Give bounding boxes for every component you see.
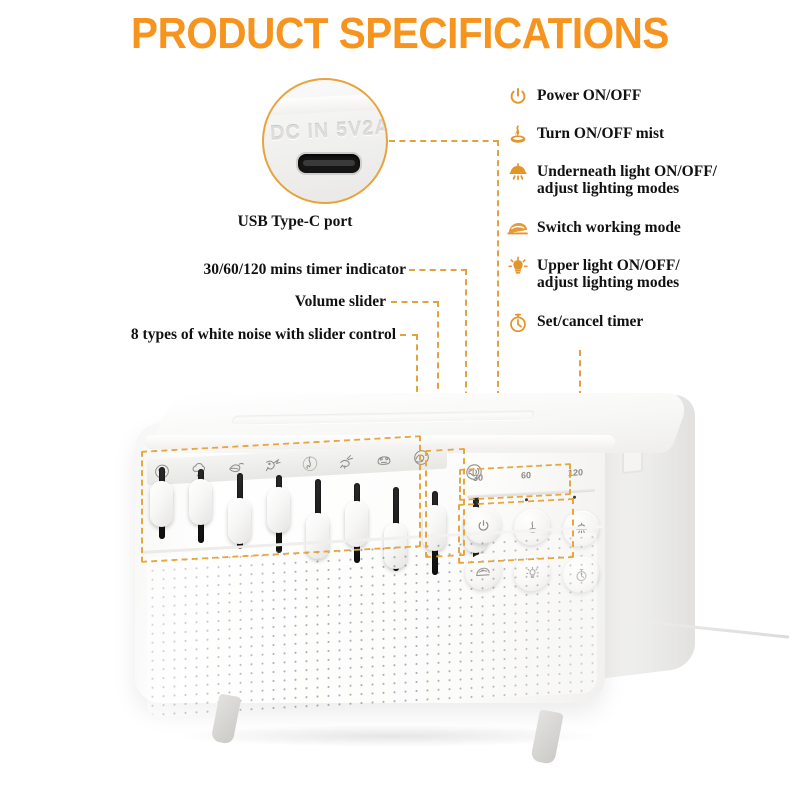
leader-volume-horizontal: [391, 301, 439, 303]
infographic-canvas: PRODUCT SPECIFICATIONS DC IN 5V2A USB Ty…: [0, 0, 800, 800]
legend-label: Switch working mode: [537, 216, 681, 236]
legend-label: Turn ON/OFF mist: [537, 122, 664, 142]
power-icon: [505, 84, 531, 110]
leader-usb-horizontal: [389, 140, 499, 142]
highlight-box-button-grid: [458, 498, 574, 564]
legend-item-upper-light: Upper light ON/OFF/ adjust lighting mode…: [505, 254, 680, 292]
label-volume-slider: Volume slider: [206, 293, 386, 311]
legend-item-underneath-light: Underneath light ON/OFF/ adjust lighting…: [505, 160, 717, 198]
legend-label: Set/cancel timer: [537, 310, 643, 330]
legend-item-mist: Turn ON/OFF mist: [505, 122, 664, 148]
highlight-box-timer-indicator: [459, 463, 571, 501]
label-timer-indicator: 30/60/120 mins timer indicator: [146, 261, 406, 279]
mist-icon: [505, 122, 531, 148]
usb-port-label: USB Type-C port: [195, 213, 395, 231]
usb-c-port-icon: [296, 152, 362, 175]
leader-timer-horizontal: [409, 269, 467, 271]
callout-surface-band: [262, 92, 388, 116]
leader-usb-vertical: [497, 140, 499, 407]
page-title: PRODUCT SPECIFICATIONS: [32, 9, 768, 59]
legend-label: Upper light ON/OFF/ adjust lighting mode…: [537, 254, 680, 292]
legend-item-working-mode: Switch working mode: [505, 216, 681, 242]
legend-label: Power ON/OFF: [537, 84, 641, 104]
legend-label: Underneath light ON/OFF/ adjust lighting…: [537, 160, 717, 198]
timer-icon: [505, 310, 531, 336]
device-leg-right: [530, 709, 563, 765]
upper-light-icon: [505, 254, 531, 280]
legend-item-timer: Set/cancel timer: [505, 310, 643, 336]
label-white-noise-sliders: 8 types of white noise with slider contr…: [76, 326, 396, 344]
legend-item-power: Power ON/OFF: [505, 84, 641, 110]
usb-emboss-text: DC IN 5V2A: [269, 117, 386, 146]
highlight-box-noise-sliders: [141, 435, 421, 563]
usb-port-callout-circle: DC IN 5V2A: [262, 78, 388, 204]
underneath-light-icon: [505, 160, 531, 186]
working-mode-icon: [505, 216, 531, 242]
